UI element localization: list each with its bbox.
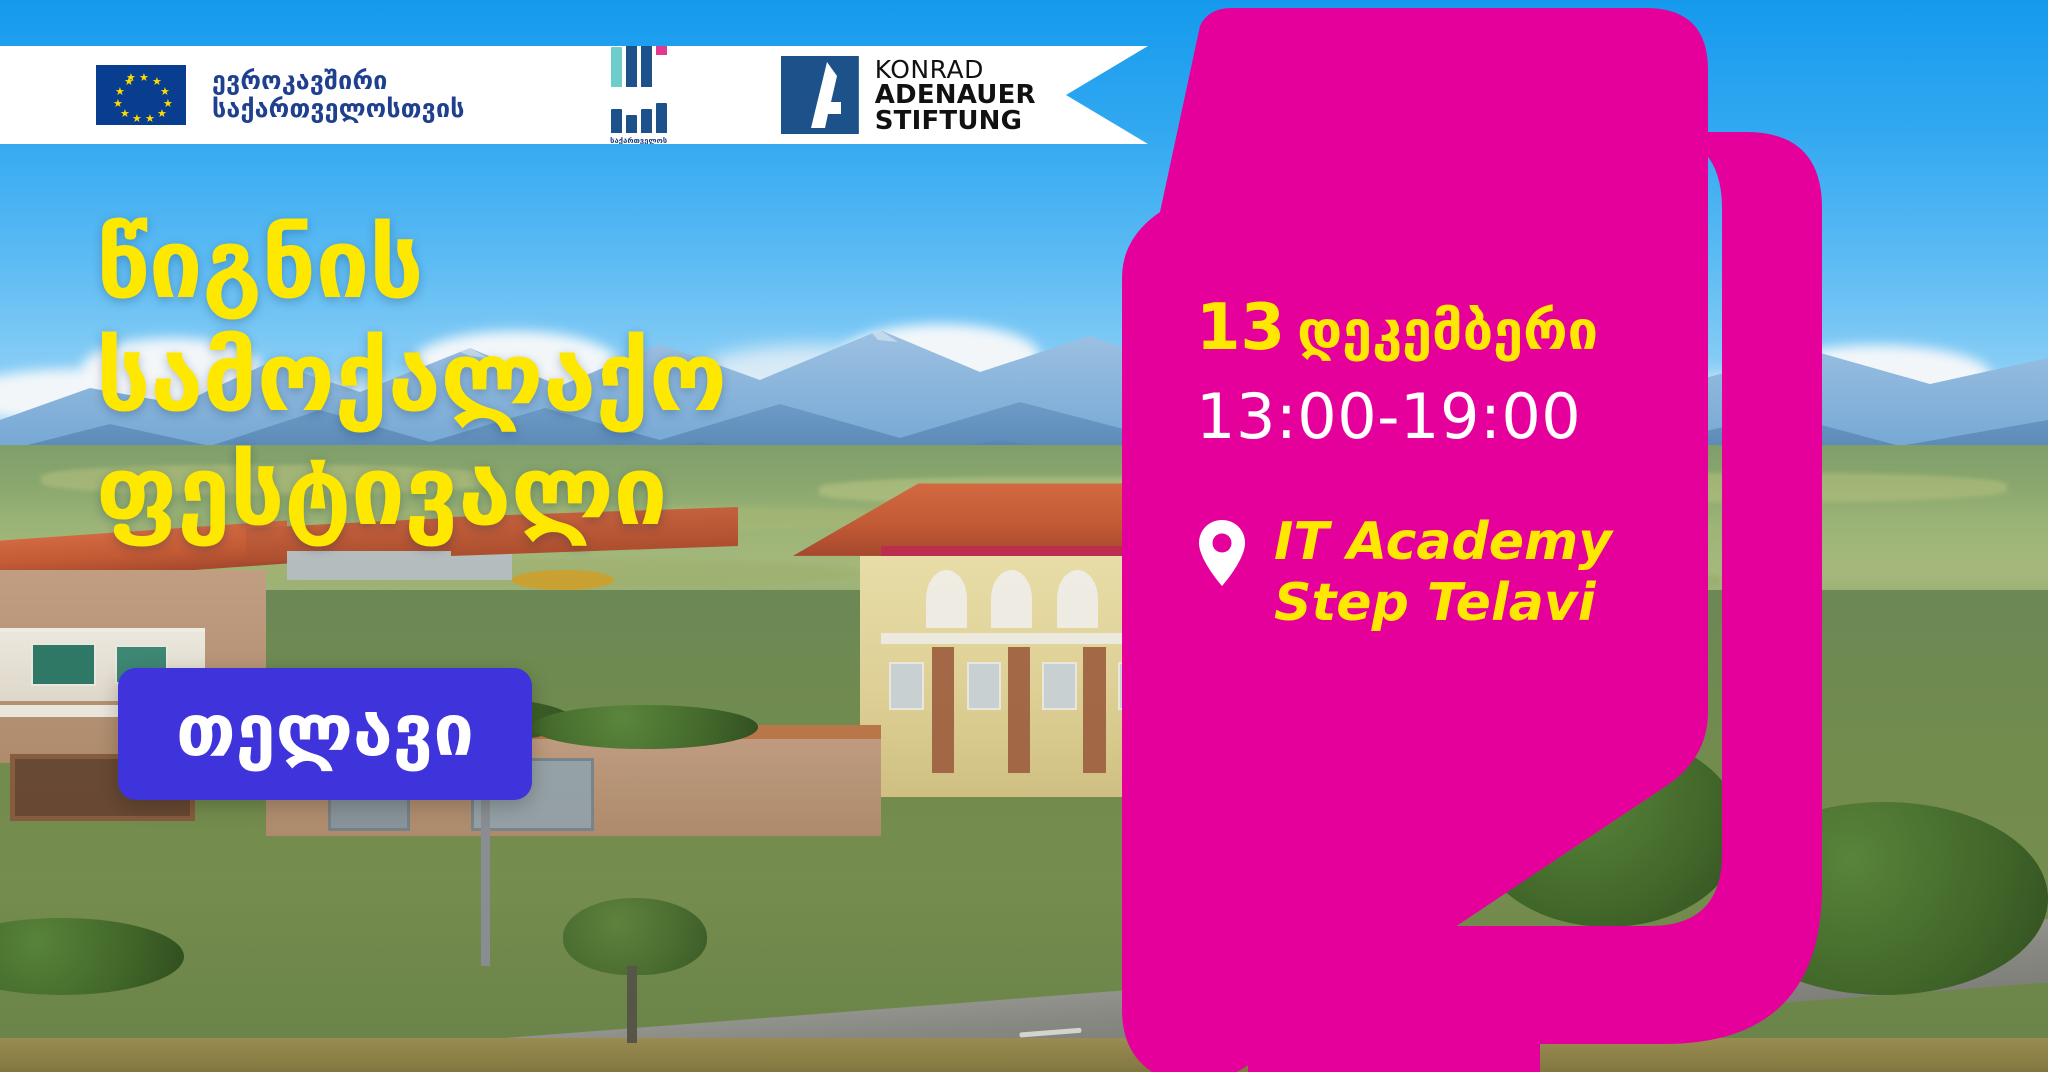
event-time: 13:00-19:00	[1196, 386, 1666, 448]
city-badge: თელავი	[118, 668, 532, 800]
map-pin-icon	[1196, 518, 1248, 592]
partner-logo-banner: ★ ★ ★ ★ ★ ★ ★ ★ ★ ★ ★ ★ ევროკავშირი საქა…	[0, 46, 1148, 144]
headline-line-1: წიგნის	[96, 208, 916, 321]
venue-line-1: IT Academy	[1274, 512, 1612, 572]
kas-a-mark	[781, 56, 859, 134]
georgian-book-association-logo: საქართველოს წიგნის ასოციაცია GEORGIAN BO…	[583, 29, 695, 161]
event-venue: IT Academy Step Telavi	[1196, 512, 1666, 635]
kas-wordmark: KONRAD ADENAUER STIFTUNG	[875, 57, 1036, 134]
venue-line-2: Step Telavi	[1274, 573, 1596, 633]
kas-line-2: ADENAUER	[875, 82, 1036, 108]
poster-canvas: ★ ★ ★ ★ ★ ★ ★ ★ ★ ★ ★ ★ ევროკავშირი საქა…	[0, 0, 2048, 1072]
konrad-adenauer-stiftung-logo: KONRAD ADENAUER STIFTUNG	[781, 56, 1036, 134]
event-day-number: 13	[1196, 291, 1285, 365]
headline-line-2: სამოქალაქო	[96, 321, 916, 434]
headline-line-3: ფესტივალი	[96, 435, 916, 548]
eu-support-text: ევროკავშირი საქართველოსთვის	[212, 67, 465, 123]
venue-name: IT Academy Step Telavi	[1274, 512, 1612, 635]
eu-text-line-1: ევროკავშირი	[212, 67, 465, 95]
event-info-panel: 13დეკემბერი 13:00-19:00 IT Academy Step …	[1196, 296, 1666, 635]
event-date: 13დეკემბერი	[1196, 296, 1666, 360]
festival-headline: წიგნის სამოქალაქო ფესტივალი	[96, 208, 916, 548]
gba-bar-marks-lower	[611, 75, 667, 133]
event-month-name: დეკემბერი	[1297, 299, 1598, 362]
eu-text-line-2: საქართველოსთვის	[212, 95, 465, 123]
kas-line-1: KONRAD	[875, 57, 1036, 82]
kas-line-3: STIFTUNG	[875, 108, 1036, 134]
kas-letter-a-shape	[781, 56, 859, 134]
european-union-flag: ★ ★ ★ ★ ★ ★ ★ ★ ★ ★ ★ ★	[96, 65, 186, 125]
